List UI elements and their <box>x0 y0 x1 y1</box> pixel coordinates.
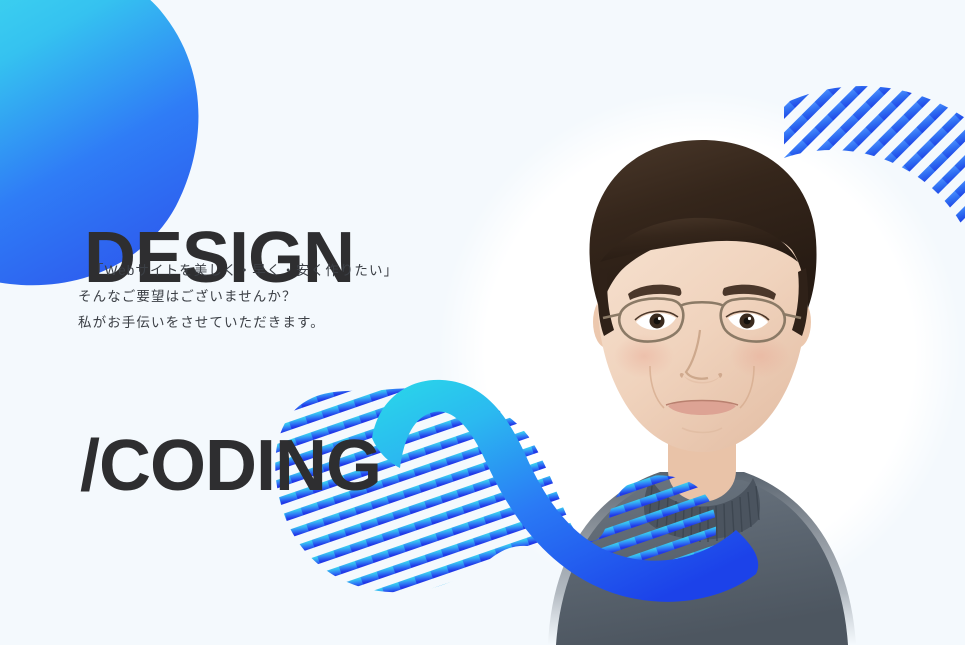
hero-subcopy: 「Webサイトを美しく・早く・安く作りたい」 そんなご要望はございませんか？ 私… <box>78 258 398 336</box>
subcopy-line-3: 私がお手伝いをさせていただきます。 <box>78 310 398 336</box>
page-title: DESIGN /CODING <box>84 86 604 639</box>
subcopy-line-1: 「Webサイトを美しく・早く・安く作りたい」 <box>78 258 398 284</box>
headline-line-2: /CODING <box>80 432 604 501</box>
hero-section: DESIGN /CODING 「Webサイトを美しく・早く・安く作りたい」 そん… <box>0 0 965 645</box>
subcopy-line-2: そんなご要望はございませんか？ <box>78 284 398 310</box>
